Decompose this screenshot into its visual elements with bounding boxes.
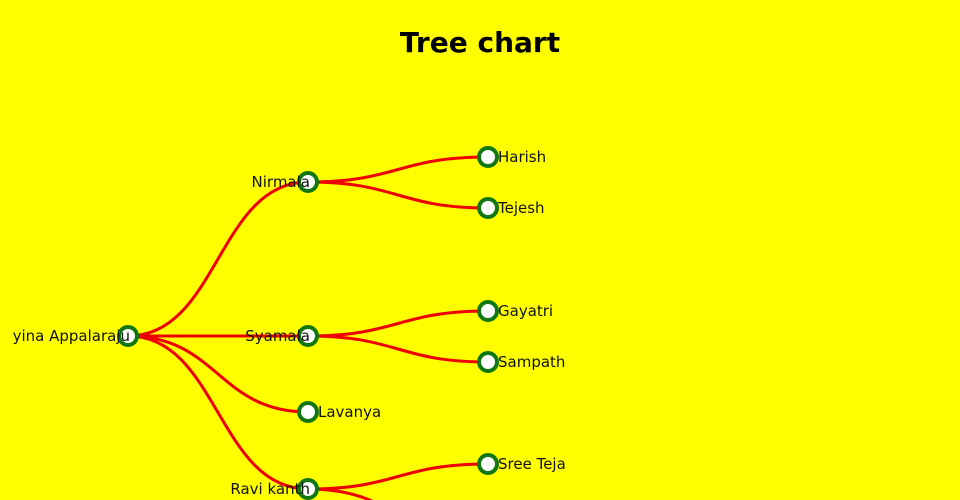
tree-link: [308, 464, 488, 489]
tree-chart-canvas: Tree chart yina AppalarajuNirmalaSyamala…: [0, 0, 960, 500]
tree-link: [308, 489, 488, 500]
tree-node-label-harish: Harish: [498, 148, 546, 166]
tree-node-gayatri[interactable]: [477, 300, 499, 322]
tree-node-label-lavanya: Lavanya: [318, 403, 381, 421]
tree-link: [308, 157, 488, 182]
tree-node-sampath[interactable]: [477, 351, 499, 373]
tree-link: [128, 336, 308, 489]
tree-node-label-sampath: Sampath: [498, 353, 565, 371]
tree-node-label-sreeteja: Sree Teja: [498, 455, 566, 473]
tree-link: [308, 182, 488, 208]
tree-node-harish[interactable]: [477, 146, 499, 168]
tree-node-label-ravikanth: Ravi kanth: [230, 480, 310, 498]
tree-node-lavanya[interactable]: [297, 401, 319, 423]
tree-link: [308, 336, 488, 362]
tree-link: [128, 182, 308, 336]
tree-node-sreeteja[interactable]: [477, 453, 499, 475]
tree-link: [128, 336, 308, 412]
tree-links-layer: [0, 0, 960, 500]
tree-node-tejesh[interactable]: [477, 197, 499, 219]
tree-link: [308, 311, 488, 336]
tree-node-label-nirmala: Nirmala: [252, 173, 310, 191]
tree-node-label-root: yina Appalaraju: [13, 327, 130, 345]
tree-node-label-tejesh: Tejesh: [498, 199, 545, 217]
tree-node-label-gayatri: Gayatri: [498, 302, 553, 320]
tree-node-label-syamala: Syamala: [245, 327, 310, 345]
